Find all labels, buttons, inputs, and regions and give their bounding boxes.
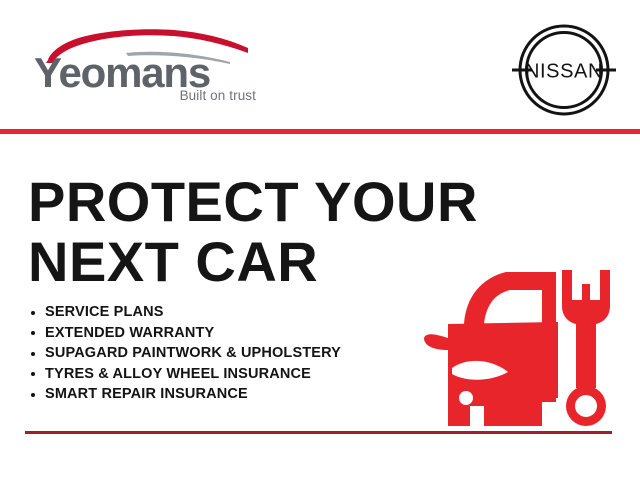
footer-divider [25, 431, 612, 434]
list-item: SMART REPAIR INSURANCE [29, 384, 449, 405]
banner-header: Yeomans Built on trust NISSAN [0, 0, 640, 130]
list-item: SUPAGARD PAINTWORK & UPHOLSTERY [29, 343, 449, 364]
yeomans-logo: Yeomans Built on trust [34, 26, 258, 108]
yeomans-tagline: Built on trust [180, 88, 256, 104]
nissan-circle-logo-icon: NISSAN [512, 24, 616, 116]
list-item: TYRES & ALLOY WHEEL INSURANCE [29, 364, 449, 385]
nissan-wordmark: NISSAN [525, 61, 603, 83]
promo-banner: Yeomans Built on trust NISSAN PROTECT YO… [0, 0, 640, 480]
banner-body: PROTECT YOUR NEXT CAR SERVICE PLANS EXTE… [0, 134, 640, 480]
feature-list: SERVICE PLANS EXTENDED WARRANTY SUPAGARD… [29, 302, 449, 405]
car-and-spanner-icon [424, 246, 620, 442]
list-item: EXTENDED WARRANTY [29, 323, 449, 344]
list-item: SERVICE PLANS [29, 302, 449, 323]
